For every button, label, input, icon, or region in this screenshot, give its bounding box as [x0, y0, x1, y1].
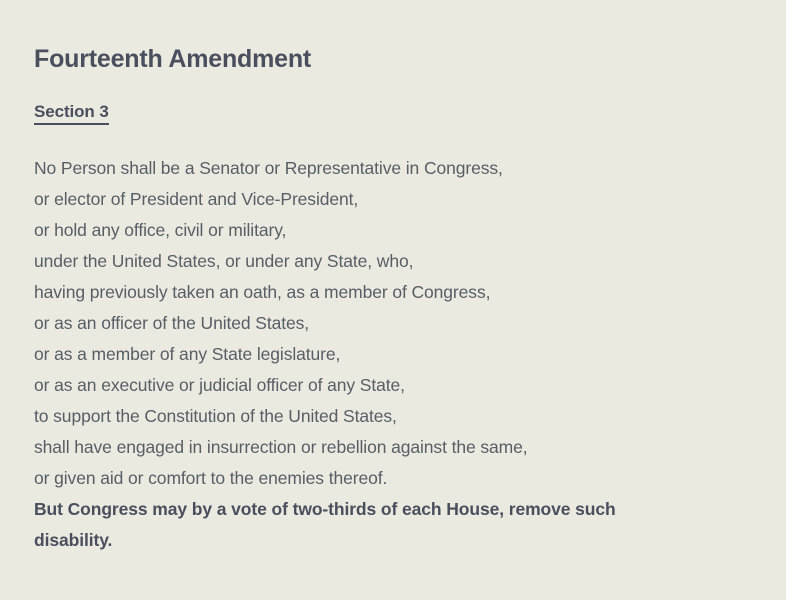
section-heading: Section 3: [34, 74, 750, 125]
body-line: or as an executive or judicial officer o…: [34, 370, 750, 401]
body-line: or given aid or comfort to the enemies t…: [34, 463, 750, 494]
body-line: or as an officer of the United States,: [34, 308, 750, 339]
body-line: to support the Constitution of the Unite…: [34, 401, 750, 432]
body-line: having previously taken an oath, as a me…: [34, 277, 750, 308]
body-line: disability.: [34, 525, 750, 556]
document-page: Fourteenth Amendment Section 3 No Person…: [0, 0, 786, 600]
body-line: No Person shall be a Senator or Represen…: [34, 153, 750, 184]
section-heading-label: Section 3: [34, 102, 109, 125]
amendment-body: No Person shall be a Senator or Represen…: [34, 125, 750, 556]
page-title: Fourteenth Amendment: [34, 40, 750, 74]
body-line: under the United States, or under any St…: [34, 246, 750, 277]
body-line: But Congress may by a vote of two-thirds…: [34, 494, 750, 525]
body-line: or elector of President and Vice-Preside…: [34, 184, 750, 215]
body-line: shall have engaged in insurrection or re…: [34, 432, 750, 463]
body-line: or hold any office, civil or military,: [34, 215, 750, 246]
body-line: or as a member of any State legislature,: [34, 339, 750, 370]
